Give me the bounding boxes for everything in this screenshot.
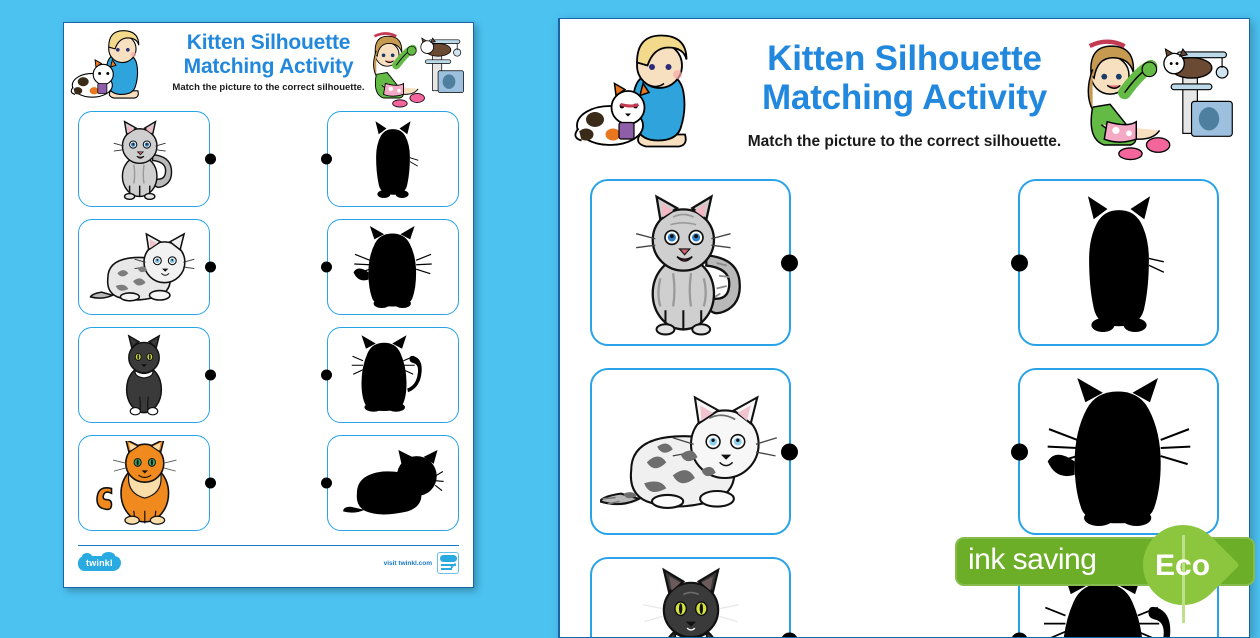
eco-badge-ink-saving-text: ink saving [968,545,1096,575]
matching-row [590,179,1219,346]
black-cat-silhouette-sitting-back-view[interactable] [327,111,459,207]
black-cat-silhouette-curled-tail[interactable] [327,327,459,423]
connector-dot[interactable] [321,478,332,489]
eco-badge-eco-text: Eco [1155,551,1210,581]
black-cat-silhouette-looking-back-whiskers[interactable] [327,219,459,315]
connector-dot[interactable] [1011,254,1028,271]
badge-check-icon: ✓ [449,561,457,572]
matching-row [590,368,1219,535]
ink-saving-eco-badge: ink saving Eco [955,531,1260,592]
worksheet-page-thumbnail[interactable]: Kitten Silhouette Matching Activity Matc… [63,22,474,588]
connector-dot[interactable] [1011,632,1028,638]
matching-rows-thumbnail [64,111,473,531]
black-cat-silhouette-sitting-back-view[interactable] [1018,179,1219,346]
connector-dot[interactable] [1011,443,1028,460]
grey-tabby-cat-sitting-front-view[interactable] [590,179,791,346]
girl-playing-with-cat-on-cat-tree-illustration [1081,27,1241,167]
girl-playing-with-cat-on-cat-tree-illustration [369,27,469,109]
twinkl-verified-badge: ✓ [437,552,459,574]
matching-row [78,435,459,531]
boy-petting-calico-cat-illustration [70,27,162,109]
boy-petting-calico-cat-illustration [574,27,724,167]
visit-twinkl-link[interactable]: visit twinkl.com [384,560,432,567]
orange-ginger-cat-sitting[interactable] [78,435,210,531]
footer-divider [78,545,459,546]
worksheet-footer-thumbnail: twinkl visit twinkl.com ✓ [64,545,473,587]
connector-dot[interactable] [321,370,332,381]
connector-dot[interactable] [321,262,332,273]
connector-dot[interactable] [781,254,798,271]
twinkl-logo[interactable]: twinkl [78,556,121,571]
connector-dot[interactable] [205,154,216,165]
grey-tabby-cat-sitting-front-view[interactable] [78,111,210,207]
black-and-white-tuxedo-cat-sitting[interactable] [590,557,791,638]
matching-row [78,111,459,207]
black-cat-silhouette-looking-back-whiskers[interactable] [1018,368,1219,535]
matching-row [78,327,459,423]
connector-dot[interactable] [205,262,216,273]
connector-dot[interactable] [321,154,332,165]
worksheet-header-thumbnail: Kitten Silhouette Matching Activity Matc… [64,23,473,111]
connector-dot[interactable] [781,443,798,460]
silver-tabby-kitten-lying-down[interactable] [78,219,210,315]
connector-dot[interactable] [205,370,216,381]
worksheet-header-main: Kitten Silhouette Matching Activity Matc… [560,19,1249,179]
silver-tabby-kitten-lying-down[interactable] [590,368,791,535]
leaf-icon: Eco [1143,525,1229,625]
black-and-white-tuxedo-cat-sitting[interactable] [78,327,210,423]
connector-dot[interactable] [781,632,798,638]
twinkl-logo-text: twinkl [86,558,113,568]
matching-row [78,219,459,315]
connector-dot[interactable] [205,478,216,489]
black-kitten-silhouette-lying-down[interactable] [327,435,459,531]
